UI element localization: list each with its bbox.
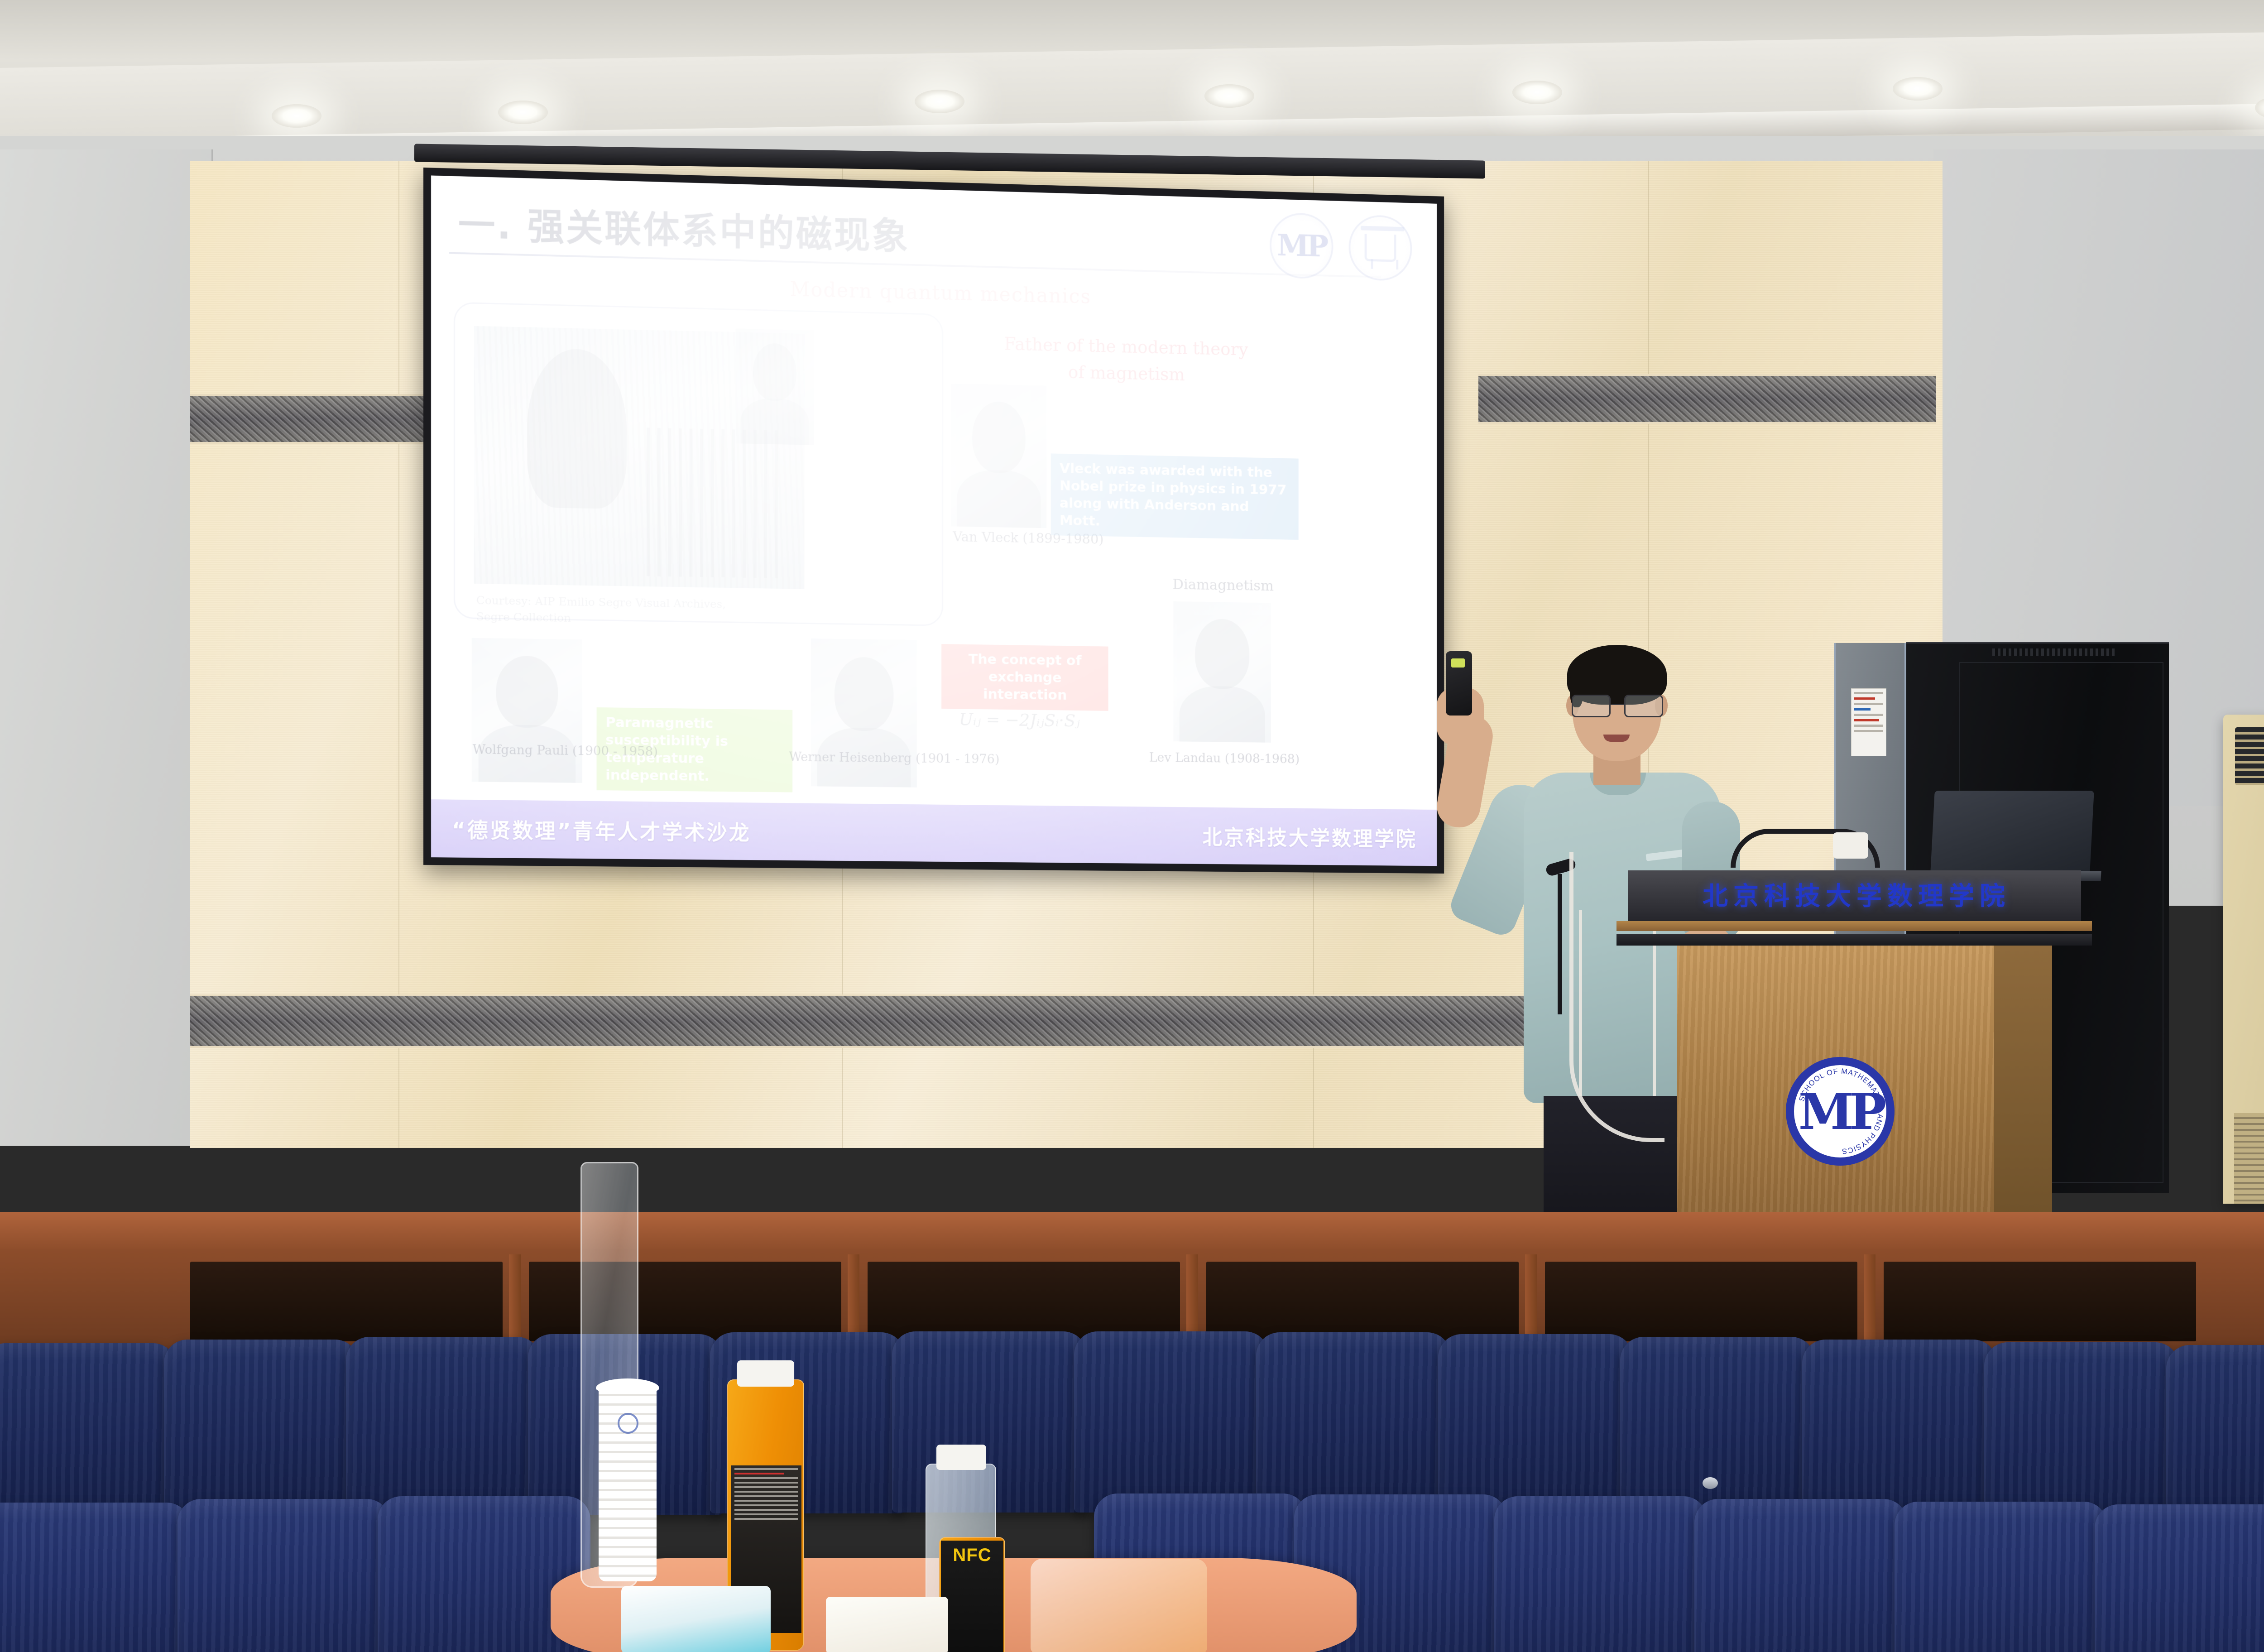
auditorium-seat[interactable] xyxy=(346,1337,541,1518)
callout-nobel-prize: Vleck was awarded with the Nobel prize i… xyxy=(1051,453,1299,540)
slide-logo-row: MP xyxy=(1270,212,1412,282)
university-seal-icon xyxy=(1349,215,1412,282)
lens-left xyxy=(1572,695,1611,717)
portrait-photo-small xyxy=(736,328,814,445)
slide-title: 一. 强关联体系中的磁现象 xyxy=(458,194,910,260)
slide-footer: “德贤数理”青年人才学术沙龙 北京科技大学数理学院 xyxy=(431,799,1437,866)
ceiling-downlight xyxy=(1204,84,1254,108)
ac-upper-grille xyxy=(2235,727,2264,785)
lectern-podium: 北京科技大学数理学院 MP SCHOOL OF MATHEMATICS AND … xyxy=(1628,870,2081,1242)
counter-cubby xyxy=(190,1262,503,1341)
power-adapter xyxy=(1833,832,1868,859)
napkin-stack[interactable] xyxy=(826,1597,948,1652)
counter-cubby xyxy=(868,1262,1180,1341)
presentation-slide: 一. 强关联体系中的磁现象 MP Modern quantum mechanic… xyxy=(431,175,1437,866)
mouth xyxy=(1603,735,1630,742)
caption-diamagnetism: Diamagnetism xyxy=(1172,576,1273,594)
granite-accent-band xyxy=(190,394,426,444)
auditorium-seat[interactable] xyxy=(1802,1340,1997,1521)
gooseneck-microphone[interactable] xyxy=(1558,874,1562,1014)
ceiling-downlight xyxy=(498,101,548,124)
auditorium-seat[interactable] xyxy=(0,1503,190,1652)
lecture-hall-scene: 一. 强关联体系中的磁现象 MP Modern quantum mechanic… xyxy=(0,0,2264,1652)
seat-hinge-icon xyxy=(1703,1477,1718,1489)
nfc-bottle-label: NFC xyxy=(941,1541,1003,1652)
cup-logo-icon xyxy=(618,1413,638,1434)
glasses-bridge xyxy=(1612,704,1624,705)
white-cable xyxy=(1569,852,1664,1142)
eyeglasses-icon xyxy=(1570,695,1665,717)
counter-cubby xyxy=(1206,1262,1519,1341)
caption-pauli: Wolfgang Pauli (1900 - 1958) xyxy=(473,742,658,759)
auditorium-seat[interactable] xyxy=(1438,1334,1633,1515)
slide-footer-right: 北京科技大学数理学院 xyxy=(1202,821,1417,852)
auditorium-seat[interactable] xyxy=(0,1343,177,1524)
clicker-led-icon xyxy=(1451,658,1465,668)
ac-lower-grille xyxy=(2234,1113,2264,1204)
counter-cubby xyxy=(1545,1262,1857,1341)
auditorium-seat[interactable] xyxy=(1895,1502,2107,1652)
left-wall-panel xyxy=(0,149,213,1146)
ceiling-downlight xyxy=(915,90,964,113)
ceiling-downlight xyxy=(1893,77,1943,101)
landau-portrait xyxy=(1173,601,1271,743)
auditorium-seat[interactable] xyxy=(164,1340,359,1521)
projection-screen: 一. 强关联体系中的磁现象 MP Modern quantum mechanic… xyxy=(423,168,1444,874)
posted-instruction-sheet xyxy=(1851,688,1886,756)
counter-divider xyxy=(1864,1254,1875,1349)
tissue-pack[interactable] xyxy=(621,1586,771,1652)
snack-bag[interactable] xyxy=(1031,1559,1207,1652)
auditorium-seat[interactable] xyxy=(1494,1496,1707,1652)
counter-divider xyxy=(509,1254,521,1349)
title-underline xyxy=(449,252,1381,278)
bottle-cap xyxy=(737,1360,794,1387)
floor-standing-air-conditioner[interactable] xyxy=(2223,715,2264,1204)
rack-vent-icon xyxy=(1992,648,2115,656)
bottle-cap xyxy=(936,1445,986,1470)
lens-right xyxy=(1624,695,1663,717)
red-header-line1: Father of the modern theory xyxy=(961,331,1291,363)
slide-subtitle: Modern quantum mechanics xyxy=(790,278,1091,308)
counter-cubby xyxy=(529,1262,841,1341)
school-mp-logo-icon: MP xyxy=(1270,212,1333,279)
svg-text:SCHOOL OF MATHEMATICS AND PHYS: SCHOOL OF MATHEMATICS AND PHYSICS xyxy=(1798,1067,1884,1156)
school-logo-emblem: MP SCHOOL OF MATHEMATICS AND PHYSICS xyxy=(1786,1057,1895,1166)
van-vleck-portrait xyxy=(951,384,1046,528)
podium-dark-lip xyxy=(1616,934,2092,946)
pauli-portrait xyxy=(472,638,582,783)
auditorium-seat[interactable] xyxy=(1984,1342,2179,1523)
caption-landau: Lev Landau (1908-1968) xyxy=(1149,750,1300,766)
auditorium-seat[interactable] xyxy=(1074,1331,1269,1513)
slide-footer-left: “德贤数理”青年人才学术沙龙 xyxy=(452,814,751,846)
auditorium-seat[interactable] xyxy=(1694,1499,1907,1652)
counter-cubby xyxy=(1884,1262,2196,1341)
ding-cauldron-glyph xyxy=(1365,234,1396,262)
logo-ring-text: SCHOOL OF MATHEMATICS AND PHYSICS xyxy=(1793,1064,1887,1158)
podium-side-panel xyxy=(1994,946,2052,1244)
auditorium-seat[interactable] xyxy=(1256,1332,1451,1513)
ceiling-downlight xyxy=(272,104,321,128)
auditorium-seat[interactable] xyxy=(2095,1504,2264,1652)
stage-counter-top xyxy=(0,1212,2264,1251)
granite-accent-band xyxy=(1478,374,1936,424)
podium-wood-lip xyxy=(1616,921,2092,931)
presenter-laptop[interactable] xyxy=(1930,791,2094,873)
ceiling-downlight xyxy=(1512,81,1562,104)
callout-exchange-interaction: The concept of exchange interaction xyxy=(941,644,1108,711)
presentation-clicker[interactable] xyxy=(1446,651,1472,716)
auditorium-seat[interactable] xyxy=(2166,1345,2264,1526)
podium-nameplate: 北京科技大学数理学院 xyxy=(1662,880,2051,912)
auditorium-seat[interactable] xyxy=(177,1499,390,1652)
mp-monogram: MP xyxy=(1277,227,1326,264)
caption-heisenberg: Werner Heisenberg (1901 - 1976) xyxy=(789,749,999,767)
auditorium-seat[interactable] xyxy=(1620,1337,1815,1518)
exchange-hamiltonian-formula: Uᵢⱼ = −2JᵢⱼSᵢ·Sⱼ xyxy=(959,709,1080,730)
